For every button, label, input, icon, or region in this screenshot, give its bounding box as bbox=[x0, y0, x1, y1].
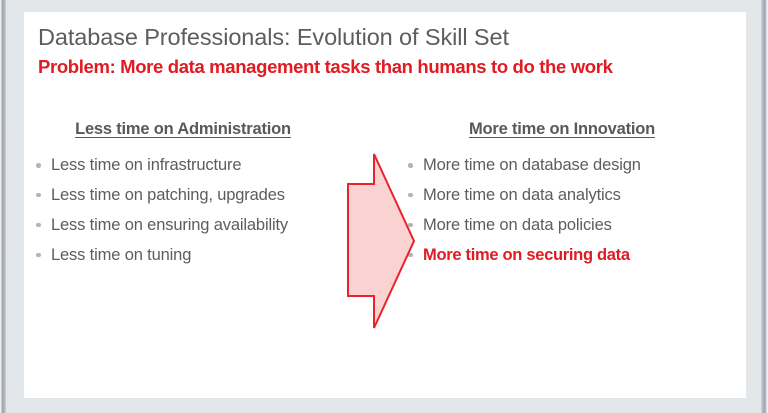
list-item: More time on database design bbox=[402, 156, 732, 175]
column-more-time-innovation: More time on Innovation More time on dat… bbox=[402, 120, 732, 276]
title-block: Database Professionals: Evolution of Ski… bbox=[38, 24, 728, 78]
problem-statement: Problem: More data management tasks than… bbox=[38, 55, 728, 78]
list-item-label: More time on database design bbox=[423, 156, 641, 174]
slide-frame: Database Professionals: Evolution of Ski… bbox=[0, 0, 768, 413]
column-heading-right: More time on Innovation bbox=[402, 120, 732, 139]
list-item: Less time on infrastructure bbox=[30, 156, 380, 175]
bullet-list-right: More time on database design More time o… bbox=[402, 156, 732, 265]
list-item-label: Less time on infrastructure bbox=[51, 156, 241, 174]
list-item-label: More time on data policies bbox=[423, 216, 612, 234]
list-item-label: More time on securing data bbox=[423, 246, 630, 264]
right-arrow-icon bbox=[342, 152, 420, 330]
list-item: More time on data analytics bbox=[402, 186, 732, 205]
bullet-dot-icon bbox=[36, 253, 41, 258]
list-item: Less time on ensuring availability bbox=[30, 216, 380, 235]
list-item: More time on data policies bbox=[402, 216, 732, 235]
list-item-label: Less time on tuning bbox=[51, 246, 191, 264]
bullet-dot-icon bbox=[36, 223, 41, 228]
frame-edge-right bbox=[761, 0, 768, 413]
page-title: Database Professionals: Evolution of Ski… bbox=[38, 24, 728, 52]
list-item: Less time on patching, upgrades bbox=[30, 186, 380, 205]
list-item-label: Less time on ensuring availability bbox=[51, 216, 288, 234]
list-item-label: More time on data analytics bbox=[423, 186, 621, 204]
bullet-dot-icon bbox=[36, 193, 41, 198]
bullet-list-left: Less time on infrastructure Less time on… bbox=[30, 156, 380, 265]
frame-edge-left bbox=[0, 0, 6, 413]
column-heading-left: Less time on Administration bbox=[30, 120, 380, 139]
list-item: Less time on tuning bbox=[30, 246, 380, 265]
list-item-label: Less time on patching, upgrades bbox=[51, 186, 285, 204]
column-less-time-administration: Less time on Administration Less time on… bbox=[30, 120, 380, 276]
list-item-highlighted: More time on securing data bbox=[402, 246, 732, 265]
slide-canvas: Database Professionals: Evolution of Ski… bbox=[24, 12, 746, 398]
bullet-dot-icon bbox=[36, 163, 41, 168]
